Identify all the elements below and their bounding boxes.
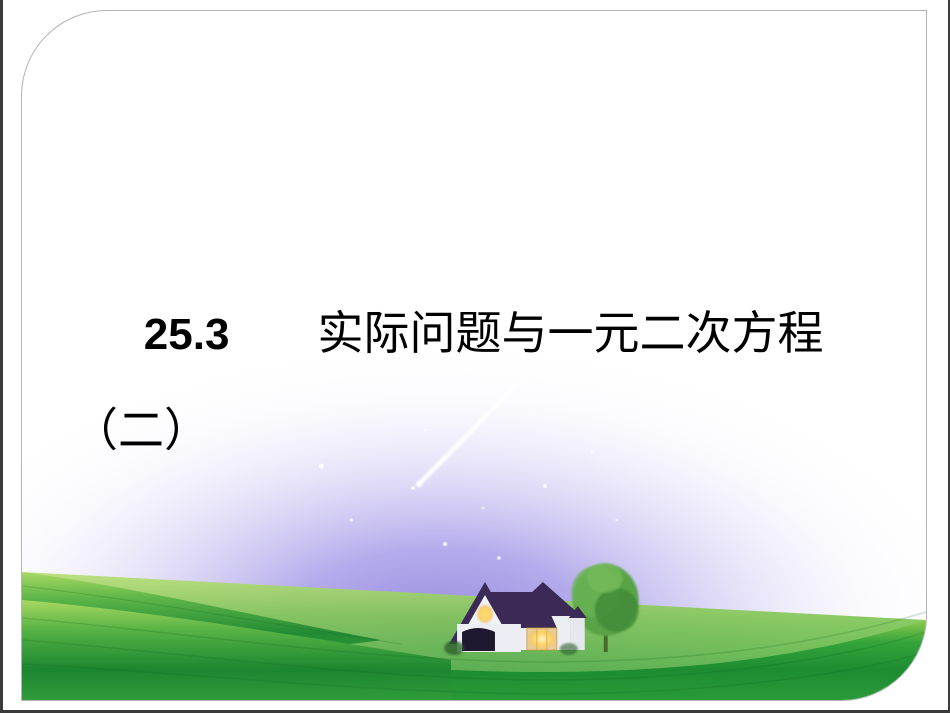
star-icon — [543, 484, 547, 488]
grass-hill-near — [22, 620, 926, 700]
grass-hill-far — [22, 572, 926, 700]
slide-frame: 25.3 实际问题与一元二次方程 （二） — [21, 10, 927, 701]
star-icon — [615, 519, 618, 522]
page-title: 25.3 实际问题与一元二次方程 — [46, 259, 876, 409]
title-main-text: 实际问题与一元二次方程 — [317, 306, 823, 360]
star-icon — [481, 507, 484, 510]
star-icon — [350, 518, 353, 521]
page-subtitle: （二） — [72, 405, 876, 457]
star-icon — [443, 542, 447, 546]
grass-hill-left-front — [22, 600, 451, 700]
star-icon — [497, 556, 501, 560]
house-icon — [444, 582, 587, 655]
star-icon — [411, 486, 415, 490]
title-block: 25.3 实际问题与一元二次方程 （二） — [46, 259, 876, 457]
page-edge-left — [0, 0, 3, 713]
star-icon — [319, 464, 324, 469]
grass-texture — [22, 586, 926, 694]
tree-icon — [572, 563, 639, 652]
title-number: 25.3 — [144, 310, 230, 359]
slide-root: 25.3 实际问题与一元二次方程 （二） — [0, 0, 950, 713]
grass-hill-left — [22, 572, 381, 660]
title-gap — [229, 310, 317, 359]
